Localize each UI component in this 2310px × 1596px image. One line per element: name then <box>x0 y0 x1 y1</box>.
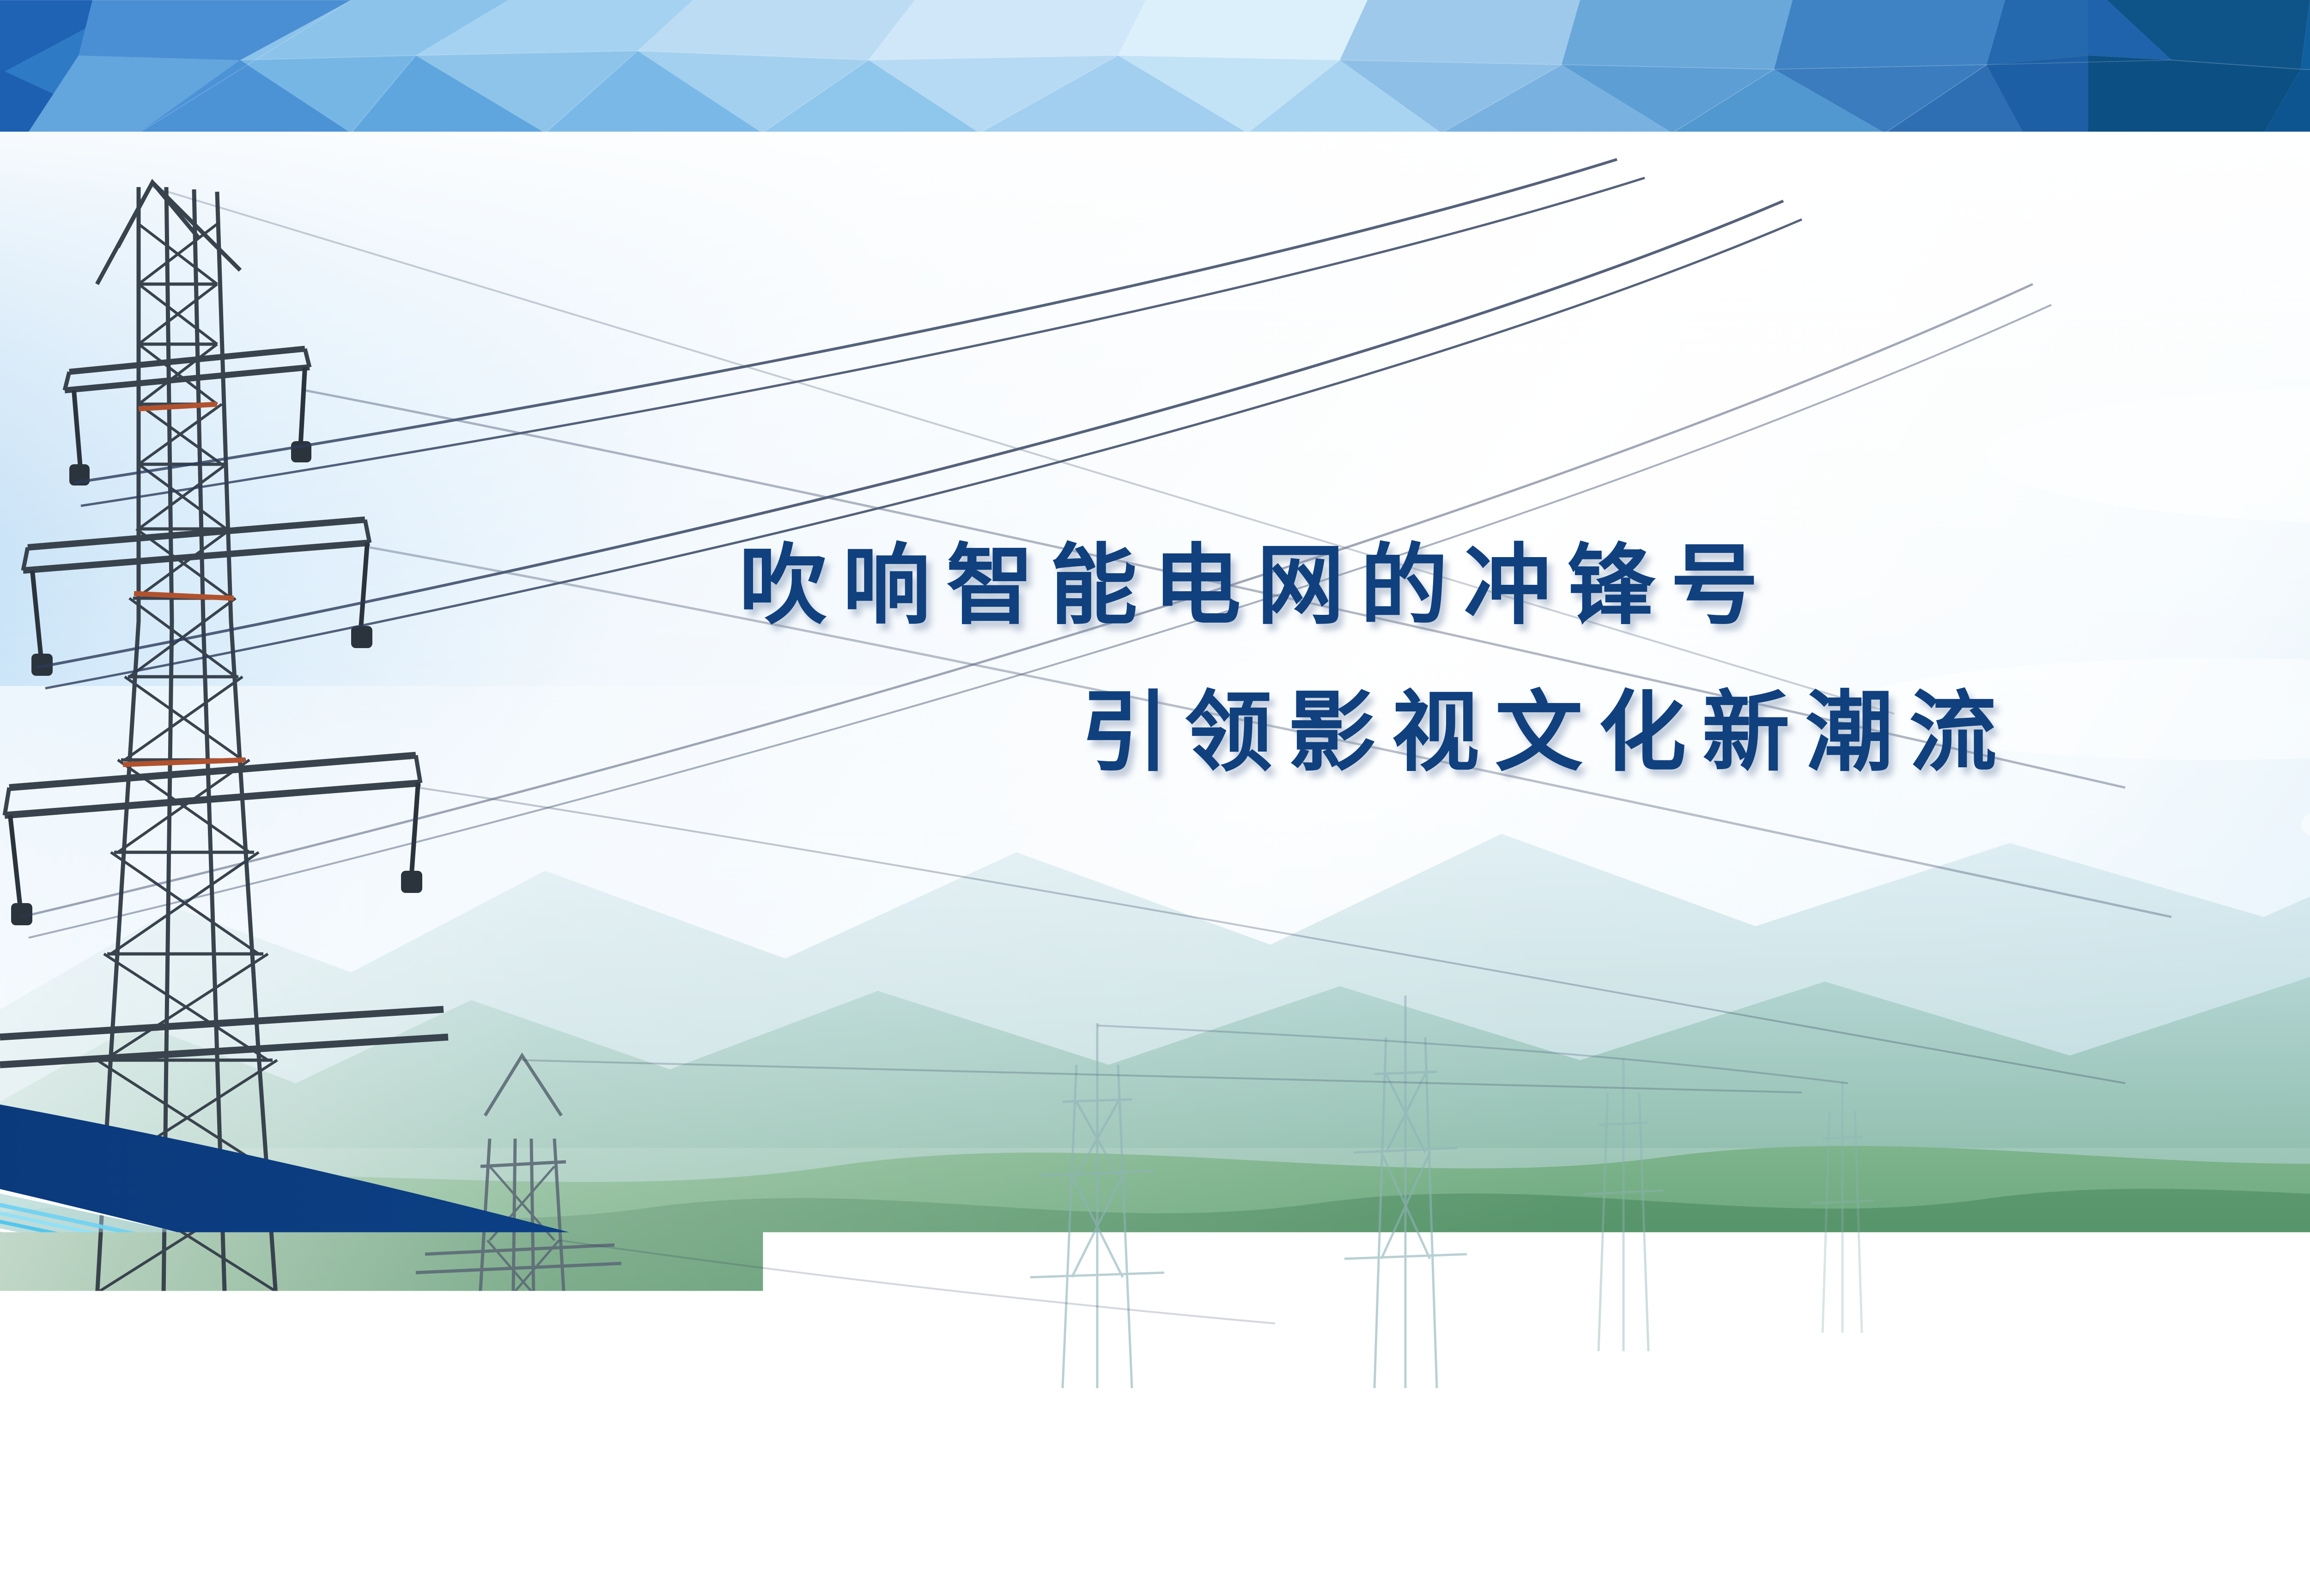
poster-canvas: 吹响智能电网的冲锋号 引领影视文化新潮流 <box>0 0 2310 1596</box>
wave-svg <box>0 0 2310 1596</box>
wave-ribbon-overlay <box>0 0 2310 1596</box>
